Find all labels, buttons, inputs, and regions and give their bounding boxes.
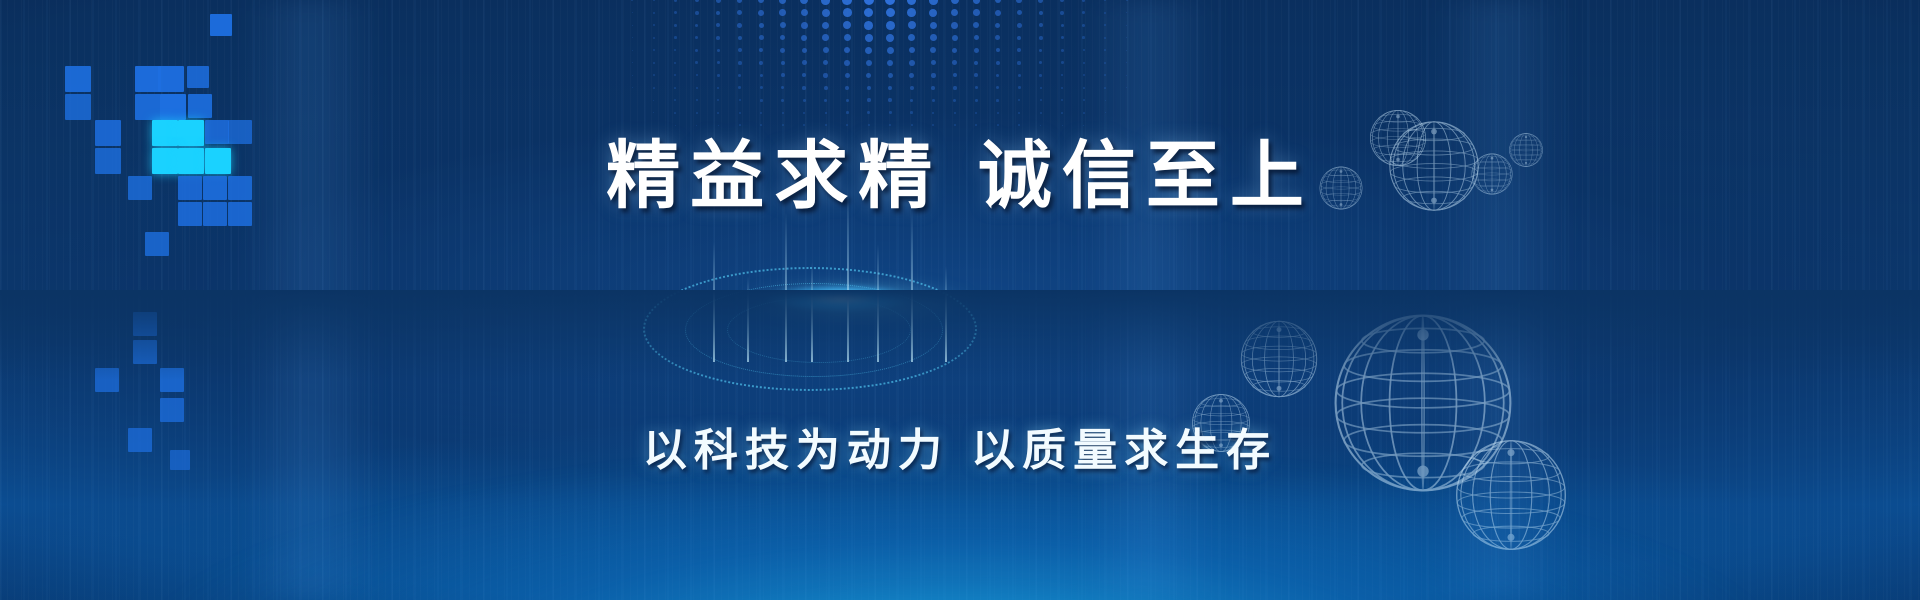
floor-fade (0, 290, 1920, 380)
hero-banner: 精益求精 诚信至上 以科技为动力 以质量求生存 (0, 0, 1920, 600)
floor-glow (0, 360, 1920, 600)
page-subtitle: 以科技为动力 以质量求生存 (0, 414, 1920, 478)
page-title: 精益求精 诚信至上 (0, 116, 1920, 223)
